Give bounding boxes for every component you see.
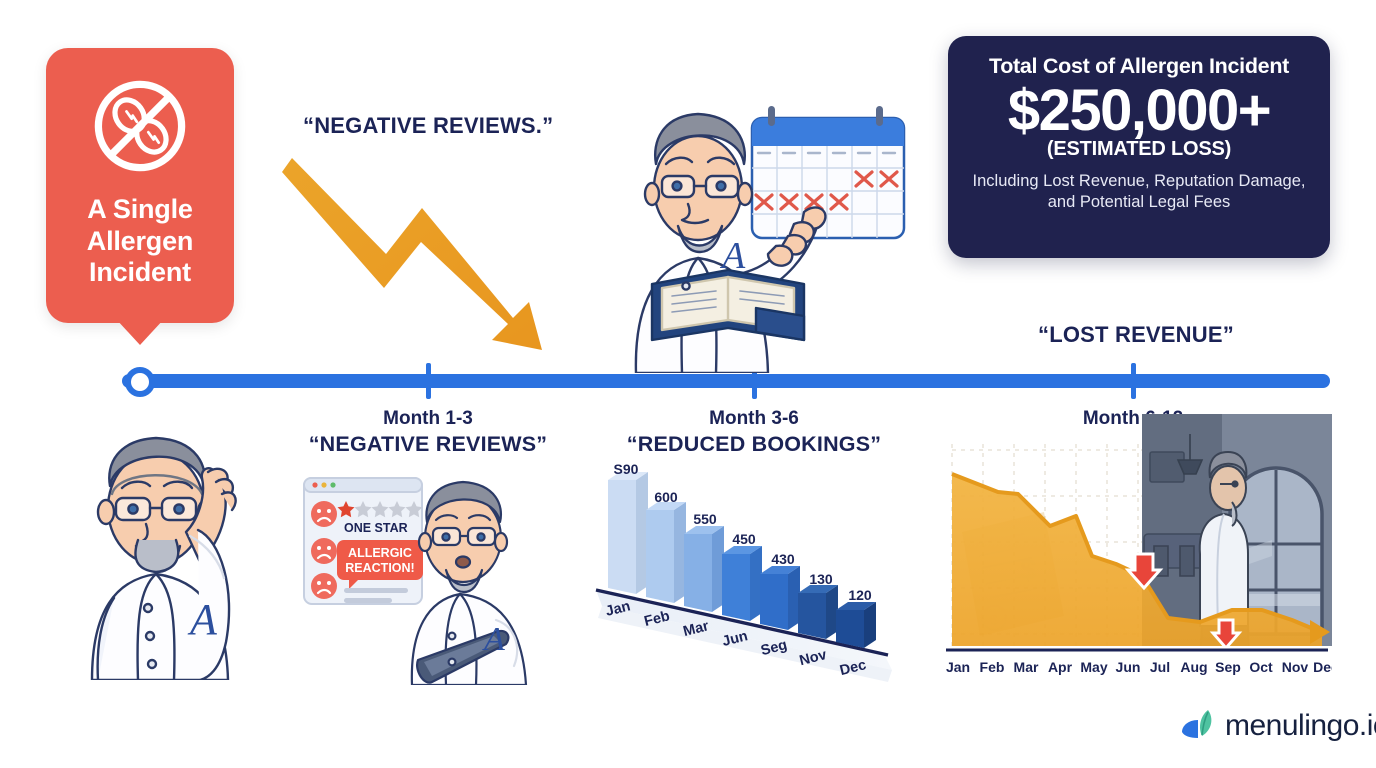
lost-revenue-area-chart: $ $ Jan Feb Mar Apr May Jun Jul Aug Sep [932, 404, 1332, 690]
svg-text:Jun: Jun [1116, 659, 1141, 675]
milestone-quote: “REDUCED BOOKINGS” [627, 432, 881, 457]
reduced-bookings-bar-chart: S90 600 550 450 430 130 120 Jan Feb Mar … [588, 458, 898, 690]
timeline-milestone-2: Month 3-6 “REDUCED BOOKINGS” [627, 408, 881, 457]
svg-text:Oct: Oct [1249, 659, 1273, 675]
brand-logo[interactable]: menulingo.io [1178, 706, 1376, 746]
svg-text:Apr: Apr [1048, 659, 1073, 675]
bar-value-jan: S90 [614, 461, 639, 477]
bar-mar [684, 526, 724, 612]
timeline-track [122, 374, 1330, 388]
bar-nov [798, 585, 838, 639]
timeline-start-node [125, 367, 155, 397]
milestone-month: Month 1-3 [309, 408, 548, 430]
bar-seg [760, 566, 800, 630]
svg-text:Mar: Mar [1014, 659, 1039, 675]
area-category-labels: Jan Feb Mar Apr May Jun Jul Aug Sep Oct … [946, 659, 1332, 675]
svg-text:Nov: Nov [1282, 659, 1309, 675]
bar-value-dec: 120 [848, 587, 872, 603]
svg-text:REACTION!: REACTION! [345, 561, 414, 575]
timeline-tick-3 [1131, 363, 1136, 399]
worried-chef-illustration: A [40, 412, 272, 680]
svg-text:Dec: Dec [1313, 659, 1332, 675]
caption-negative-reviews-top: “NEGATIVE REVIEWS.” [303, 113, 553, 139]
review-rating-label: ONE STAR [344, 521, 408, 535]
svg-text:Jan: Jan [946, 659, 970, 675]
cost-card-amount: $250,000+ [968, 81, 1310, 140]
logo-text: menulingo.io [1225, 709, 1376, 743]
total-cost-card: Total Cost of Allergen Incident $250,000… [948, 36, 1330, 258]
bar-feb [646, 502, 686, 603]
bar-value-seg: 430 [771, 551, 795, 567]
svg-text:Sep: Sep [1215, 659, 1241, 675]
svg-text:Jul: Jul [1150, 659, 1170, 675]
review-card: ONE STAR ALLERGIC REACTION! [304, 478, 423, 604]
caption-lost-revenue: “LOST REVENUE” [1038, 322, 1234, 348]
bar-value-feb: 600 [654, 489, 678, 505]
timeline-milestone-1: Month 1-3 “NEGATIVE REVIEWS” [309, 408, 548, 457]
chef-with-tablet-illustration: ONE STAR ALLERGIC REACTION! [300, 470, 540, 685]
declining-zigzag-arrow-icon [280, 150, 570, 355]
svg-text:Aug: Aug [1180, 659, 1207, 675]
calendar-with-cancellations [752, 106, 904, 238]
infographic-canvas: A SingleAllergenIncident Total Cost of A… [0, 0, 1376, 768]
cost-card-note: Including Lost Revenue, Reputation Damag… [968, 171, 1310, 213]
leaf-book-icon [1178, 706, 1218, 746]
no-allergen-peanut-icon [88, 74, 192, 178]
bar-jun [722, 546, 762, 621]
bar-value-jun: 450 [732, 531, 756, 547]
badge-pointer [116, 319, 164, 345]
cost-card-title: Total Cost of Allergen Incident [968, 54, 1310, 79]
svg-text:A: A [187, 595, 218, 644]
svg-text:A: A [482, 621, 505, 658]
svg-text:A: A [719, 235, 746, 277]
svg-text:May: May [1080, 659, 1107, 675]
timeline-tick-1 [426, 363, 431, 399]
svg-text:Feb: Feb [980, 659, 1005, 675]
badge-label: A SingleAllergenIncident [87, 194, 193, 289]
bar-dec [836, 602, 876, 648]
bar-jan [608, 472, 648, 594]
milestone-quote: “NEGATIVE REVIEWS” [309, 432, 548, 457]
allergen-incident-badge: A SingleAllergenIncident [46, 48, 234, 323]
svg-text:ALLERGIC: ALLERGIC [348, 546, 412, 560]
bar-value-mar: 550 [693, 511, 717, 527]
bar-value-nov: 130 [809, 571, 833, 587]
chef-with-calendar-illustration: A [618, 88, 914, 373]
milestone-month: Month 3-6 [627, 408, 881, 430]
